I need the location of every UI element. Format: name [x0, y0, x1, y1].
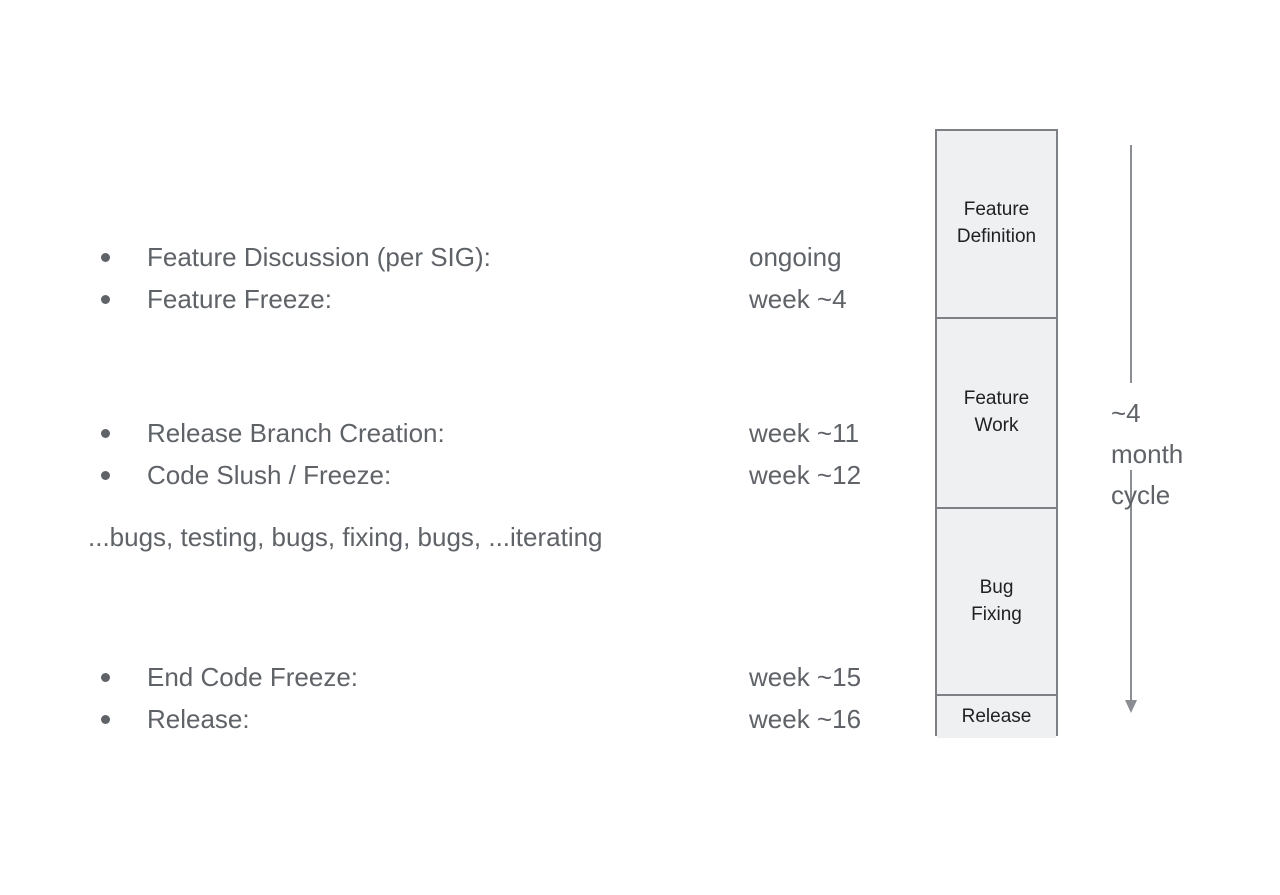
milestone-group-late: End Code Freeze: week ~15 Release: week …	[0, 656, 920, 740]
milestone-label: Release:	[147, 698, 250, 740]
milestone-label: Release Branch Creation:	[147, 412, 445, 454]
milestone-label: Feature Freeze:	[147, 278, 332, 320]
phase-release: Release	[937, 694, 1056, 738]
milestone-value: week ~12	[749, 454, 861, 496]
milestone-value: week ~16	[749, 698, 861, 740]
bullet-icon	[101, 429, 110, 438]
release-cycle-slide: Feature Discussion (per SIG): ongoing Fe…	[0, 0, 1280, 895]
cycle-duration-label: ~4 month cycle	[1111, 393, 1241, 516]
cycle-line-2: month	[1111, 434, 1241, 475]
milestone-row: Feature Freeze: week ~4	[0, 278, 920, 320]
phase-feature-definition: FeatureDefinition	[937, 131, 1056, 317]
milestone-value: week ~4	[749, 278, 847, 320]
bullet-icon	[101, 295, 110, 304]
cycle-arrow-head-icon	[1125, 700, 1137, 713]
bullet-icon	[101, 471, 110, 480]
milestone-value: ongoing	[749, 236, 842, 278]
milestone-row: Feature Discussion (per SIG): ongoing	[0, 236, 920, 278]
bullet-icon	[101, 715, 110, 724]
phase-bar: FeatureDefinition FeatureWork BugFixing …	[935, 129, 1058, 736]
cycle-arrow-upper-segment	[1130, 145, 1132, 383]
milestone-group-mid: Release Branch Creation: week ~11 Code S…	[0, 412, 920, 496]
milestone-group-early: Feature Discussion (per SIG): ongoing Fe…	[0, 236, 920, 320]
milestone-row: Code Slush / Freeze: week ~12	[0, 454, 920, 496]
milestone-label: End Code Freeze:	[147, 656, 358, 698]
milestone-value: week ~15	[749, 656, 861, 698]
milestone-row: Release Branch Creation: week ~11	[0, 412, 920, 454]
milestone-label: Code Slush / Freeze:	[147, 454, 391, 496]
milestone-value: week ~11	[749, 412, 859, 454]
bullet-icon	[101, 253, 110, 262]
cycle-line-3: cycle	[1111, 475, 1241, 516]
iterating-note: ...bugs, testing, bugs, fixing, bugs, ..…	[88, 522, 603, 553]
phase-feature-work: FeatureWork	[937, 317, 1056, 507]
milestone-row: Release: week ~16	[0, 698, 920, 740]
cycle-line-1: ~4	[1111, 393, 1241, 434]
phase-bug-fixing: BugFixing	[937, 507, 1056, 694]
bullet-icon	[101, 673, 110, 682]
milestone-label: Feature Discussion (per SIG):	[147, 236, 491, 278]
milestone-row: End Code Freeze: week ~15	[0, 656, 920, 698]
